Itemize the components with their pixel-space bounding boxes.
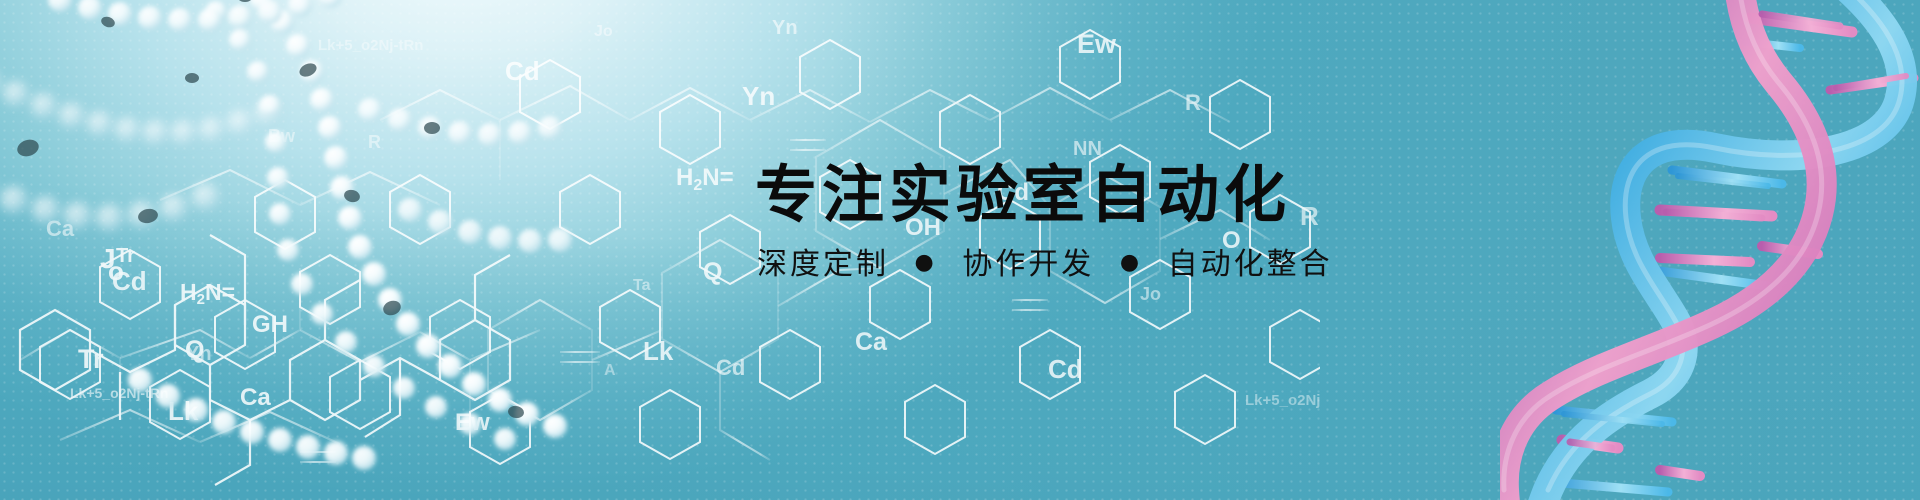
page-title: 专注实验室自动化 <box>755 160 1515 231</box>
svg-text:R: R <box>1185 90 1201 115</box>
ribbon-dna-double-helix <box>1500 0 1920 500</box>
bullet-separator-icon: ● <box>1120 252 1142 274</box>
svg-text:Lk+5_o2Nj: Lk+5_o2Nj <box>1245 392 1320 409</box>
svg-text:NN: NN <box>1073 138 1102 160</box>
svg-text:Yn: Yn <box>742 81 775 111</box>
svg-text:Ca: Ca <box>855 328 888 356</box>
banner-subtitle: 深度定制 ● 协作开发 ● 自动化整合 <box>757 247 1515 283</box>
subtitle-segment-3: 自动化整合 <box>1168 247 1333 282</box>
pearl-bead-dna-helix <box>0 0 660 500</box>
subtitle-segment-1: 深度定制 <box>757 247 889 282</box>
svg-text:Cd: Cd <box>1048 354 1083 384</box>
svg-text:Cd: Cd <box>716 355 745 380</box>
svg-text:Q: Q <box>703 258 722 286</box>
bullet-separator-icon: ● <box>915 252 937 274</box>
subtitle-segment-2: 协作开发 <box>962 247 1094 282</box>
svg-text:Ew: Ew <box>1077 29 1117 59</box>
svg-text:H2N=: H2N= <box>676 164 734 194</box>
svg-text:Yn: Yn <box>772 17 798 39</box>
hero-banner: Cd Jo Yn Yn Ew H2N= OH R R O Cd NN Q Ta … <box>0 0 1920 500</box>
svg-text:Jo: Jo <box>1140 284 1161 304</box>
banner-copy: 专注实验室自动化 深度定制 ● 协作开发 ● 自动化整合 <box>755 160 1515 283</box>
